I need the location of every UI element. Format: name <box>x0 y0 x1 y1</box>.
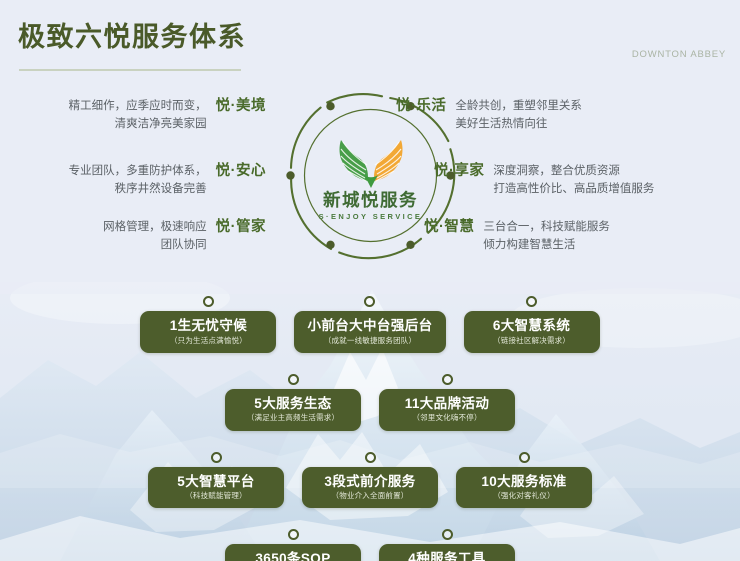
pillar-row-0: 1生无忧守候 （只为生活点满愉悦） 小前台大中台强后台 （成就一线敏捷服务团队）… <box>0 296 740 353</box>
pillar-pill[interactable]: 5大服务生态 （满足业主高频生活需求） <box>225 389 361 431</box>
pillar-subtitle: （邻里文化嗨不停） <box>392 414 502 422</box>
pillar-pill[interactable]: 11大品牌活动 （邻里文化嗨不停） <box>379 389 515 431</box>
wheel-item-name: 悦·智慧 <box>424 219 474 236</box>
pillar-pill[interactable]: 小前台大中台强后台 （成就一线敏捷服务团队） <box>294 311 445 353</box>
pillar-cell[interactable]: 10大服务标准 （强化对客礼仪） <box>456 452 592 509</box>
wheel-item-desc: 三台合一，科技赋能服务 倾力构建智慧生活 <box>483 219 610 255</box>
pillar-title: 3段式前介服务 <box>315 474 425 490</box>
wheel-item-right-2[interactable]: 悦·智慧 三台合一，科技赋能服务 倾力构建智慧生活 <box>424 219 610 255</box>
wheel-item-desc: 精工细作，应季应时而变， 清爽洁净亮美家园 <box>69 98 207 134</box>
pillar-subtitle: （成就一线敏捷服务团队） <box>307 337 432 345</box>
pillar-subtitle: （强化对客礼仪） <box>469 492 579 500</box>
pillar-cell[interactable]: 5大智慧平台 （科技赋能管理） <box>148 452 284 509</box>
pillar-title: 4种服务工具 <box>392 551 502 561</box>
wheel-item-left-1[interactable]: 专业团队，多重防护体系， 秩序井然设备完善 悦·安心 <box>69 163 266 199</box>
pillar-title: 10大服务标准 <box>469 474 579 490</box>
wheel-item-name: 悦·管家 <box>216 219 266 236</box>
pillar-title: 3650条SOP <box>238 551 348 561</box>
pillar-cell[interactable]: 3650条SOP （365天贴心守候） <box>225 529 361 561</box>
slide-header: 极致六悦服务体系 DOWNTON ABBEY <box>0 0 740 80</box>
wheel-item-right-0[interactable]: 悦·乐活 全龄共创，重塑邻里关系 美好生活热情向往 <box>396 98 582 134</box>
node-circle-icon <box>203 296 214 307</box>
page-title: 极致六悦服务体系 <box>18 24 246 51</box>
pillar-subtitle: （只为生活点满愉悦） <box>153 337 263 345</box>
pillar-cell[interactable]: 6大智慧系统 （链接社区解决需求） <box>464 296 600 353</box>
pillar-subtitle: （科技赋能管理） <box>161 492 271 500</box>
pillar-row-3: 3650条SOP （365天贴心守候） 4种服务工具 （业主诉求一触即发） <box>0 529 740 561</box>
pillar-title: 6大智慧系统 <box>477 318 587 334</box>
pillar-pill[interactable]: 5大智慧平台 （科技赋能管理） <box>148 467 284 509</box>
wheel-item-name: 悦·享家 <box>434 163 484 180</box>
pillar-title: 1生无忧守候 <box>153 318 263 334</box>
node-circle-icon <box>364 296 375 307</box>
wheel-item-name: 悦·美境 <box>216 98 266 115</box>
wheel-item-desc: 全龄共创，重塑邻里关系 美好生活热情向往 <box>455 98 582 134</box>
wheel-item-left-2[interactable]: 网格管理，极速响应 团队协同 悦·管家 <box>103 219 266 255</box>
pillar-pill[interactable]: 10大服务标准 （强化对客礼仪） <box>456 467 592 509</box>
wheel-item-left-0[interactable]: 精工细作，应季应时而变， 清爽洁净亮美家园 悦·美境 <box>69 98 266 134</box>
pillar-title: 5大服务生态 <box>238 396 348 412</box>
slide-canvas: 极致六悦服务体系 DOWNTON ABBEY <box>0 0 740 561</box>
pillar-cell[interactable]: 11大品牌活动 （邻里文化嗨不停） <box>379 374 515 431</box>
pillar-title: 5大智慧平台 <box>161 474 271 490</box>
node-circle-icon <box>288 529 299 540</box>
pillar-subtitle: （物业介入全面前置） <box>315 492 425 500</box>
pillar-pill[interactable]: 6大智慧系统 （链接社区解决需求） <box>464 311 600 353</box>
pillar-cell[interactable]: 4种服务工具 （业主诉求一触即发） <box>379 529 515 561</box>
pillar-pill[interactable]: 1生无忧守候 （只为生活点满愉悦） <box>140 311 276 353</box>
wheel-item-desc: 深度洞察，整合优质资源 打造高性价比、高品质增值服务 <box>493 163 654 199</box>
pillar-row-1: 5大服务生态 （满足业主高频生活需求） 11大品牌活动 （邻里文化嗨不停） <box>0 374 740 431</box>
service-pillars-pyramid: 1生无忧守候 （只为生活点满愉悦） 小前台大中台强后台 （成就一线敏捷服务团队）… <box>0 296 740 561</box>
pillar-title: 11大品牌活动 <box>392 396 502 412</box>
node-circle-icon <box>365 452 376 463</box>
wheel-item-name: 悦·乐活 <box>396 98 446 115</box>
pillar-pill[interactable]: 3650条SOP （365天贴心守候） <box>225 544 361 561</box>
wheel-item-desc: 网格管理，极速响应 团队协同 <box>103 219 207 255</box>
node-circle-icon <box>288 374 299 385</box>
pillar-cell[interactable]: 1生无忧守候 （只为生活点满愉悦） <box>140 296 276 353</box>
pillar-cell[interactable]: 3段式前介服务 （物业介入全面前置） <box>302 452 438 509</box>
pillar-pill[interactable]: 3段式前介服务 （物业介入全面前置） <box>302 467 438 509</box>
node-circle-icon <box>442 374 453 385</box>
pillar-subtitle: （链接社区解决需求） <box>477 337 587 345</box>
wheel-item-desc: 专业团队，多重防护体系， 秩序井然设备完善 <box>69 163 207 199</box>
pillar-cell[interactable]: 小前台大中台强后台 （成就一线敏捷服务团队） <box>294 296 445 353</box>
node-circle-icon <box>519 452 530 463</box>
node-circle-icon <box>442 529 453 540</box>
title-underline-divider <box>19 69 241 71</box>
node-circle-icon <box>211 452 222 463</box>
pillar-subtitle: （满足业主高频生活需求） <box>238 414 348 422</box>
brand-watermark: DOWNTON ABBEY <box>632 49 726 60</box>
node-circle-icon <box>526 296 537 307</box>
pillar-row-2: 5大智慧平台 （科技赋能管理） 3段式前介服务 （物业介入全面前置） 10大服务… <box>0 452 740 509</box>
pillar-pill[interactable]: 4种服务工具 （业主诉求一触即发） <box>379 544 515 561</box>
pillar-title: 小前台大中台强后台 <box>307 318 432 334</box>
wheel-item-right-1[interactable]: 悦·享家 深度洞察，整合优质资源 打造高性价比、高品质增值服务 <box>434 163 654 199</box>
wheel-item-name: 悦·安心 <box>216 163 266 180</box>
pillar-cell[interactable]: 5大服务生态 （满足业主高频生活需求） <box>225 374 361 431</box>
